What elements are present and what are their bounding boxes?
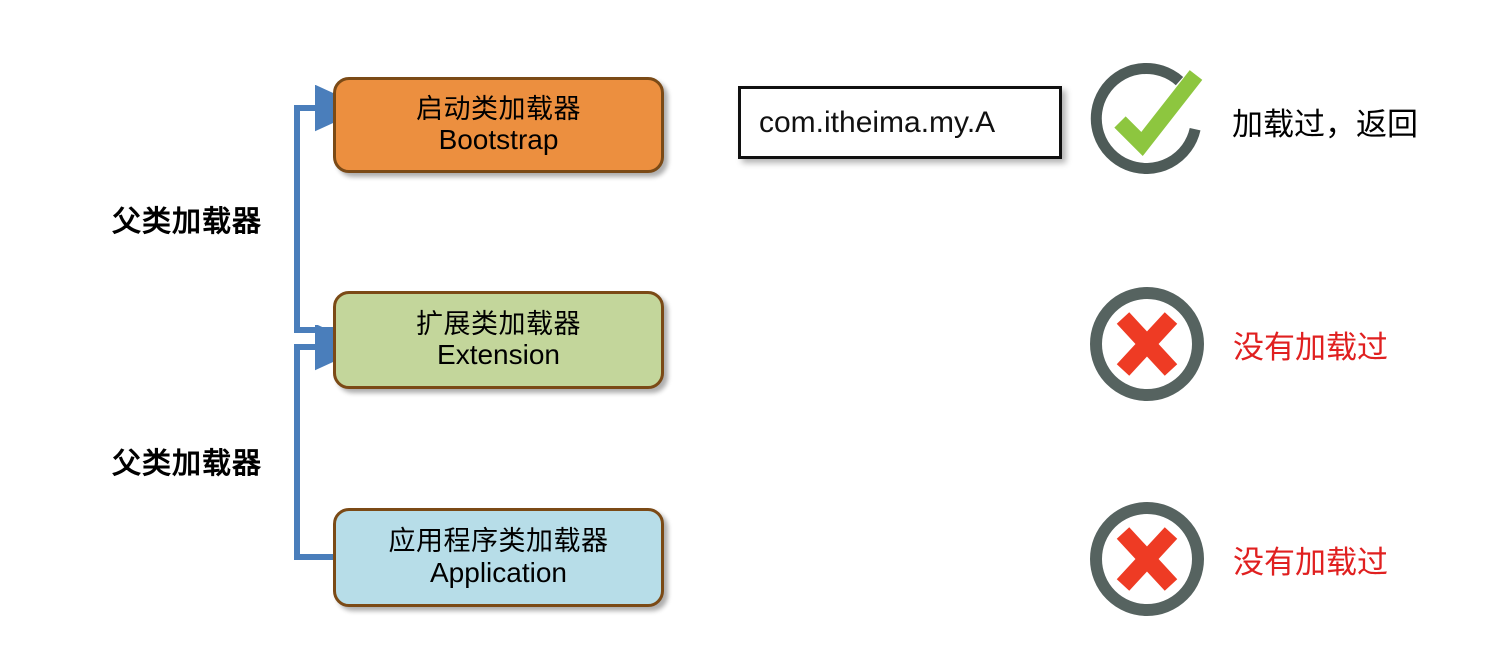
status-label-not-loaded-1: 没有加载过 [1233, 322, 1388, 367]
loader-box-bootstrap-en: Bootstrap [439, 124, 559, 156]
diagram-canvas: 启动类加载器 Bootstrap 扩展类加载器 Extension 应用程序类加… [0, 0, 1489, 652]
loader-box-application-cn: 应用程序类加载器 [389, 526, 609, 557]
loader-box-extension-en: Extension [437, 339, 560, 371]
status-row-loaded: 加载过，返回 [1090, 62, 1418, 180]
status-row-not-loaded-2: 没有加载过 [1085, 497, 1388, 621]
cross-circle-icon [1085, 497, 1209, 621]
loader-box-bootstrap-cn: 启动类加载器 [416, 94, 581, 125]
status-row-not-loaded-1: 没有加载过 [1085, 282, 1388, 406]
status-label-not-loaded-2: 没有加载过 [1233, 537, 1388, 582]
parent-loader-label-1: 父类加载器 [112, 198, 262, 240]
cross-circle-icon [1085, 282, 1209, 406]
loader-box-bootstrap[interactable]: 启动类加载器 Bootstrap [333, 77, 664, 173]
loader-box-application[interactable]: 应用程序类加载器 Application [333, 508, 664, 607]
loader-box-extension[interactable]: 扩展类加载器 Extension [333, 291, 664, 389]
class-name-box[interactable]: com.itheima.my.A [738, 86, 1062, 159]
loader-box-application-en: Application [430, 557, 567, 589]
status-label-loaded: 加载过，返回 [1232, 99, 1418, 144]
class-name-text: com.itheima.my.A [741, 106, 995, 140]
check-circle-icon [1090, 62, 1208, 180]
parent-loader-label-2: 父类加载器 [112, 440, 262, 482]
loader-box-extension-cn: 扩展类加载器 [416, 309, 581, 340]
